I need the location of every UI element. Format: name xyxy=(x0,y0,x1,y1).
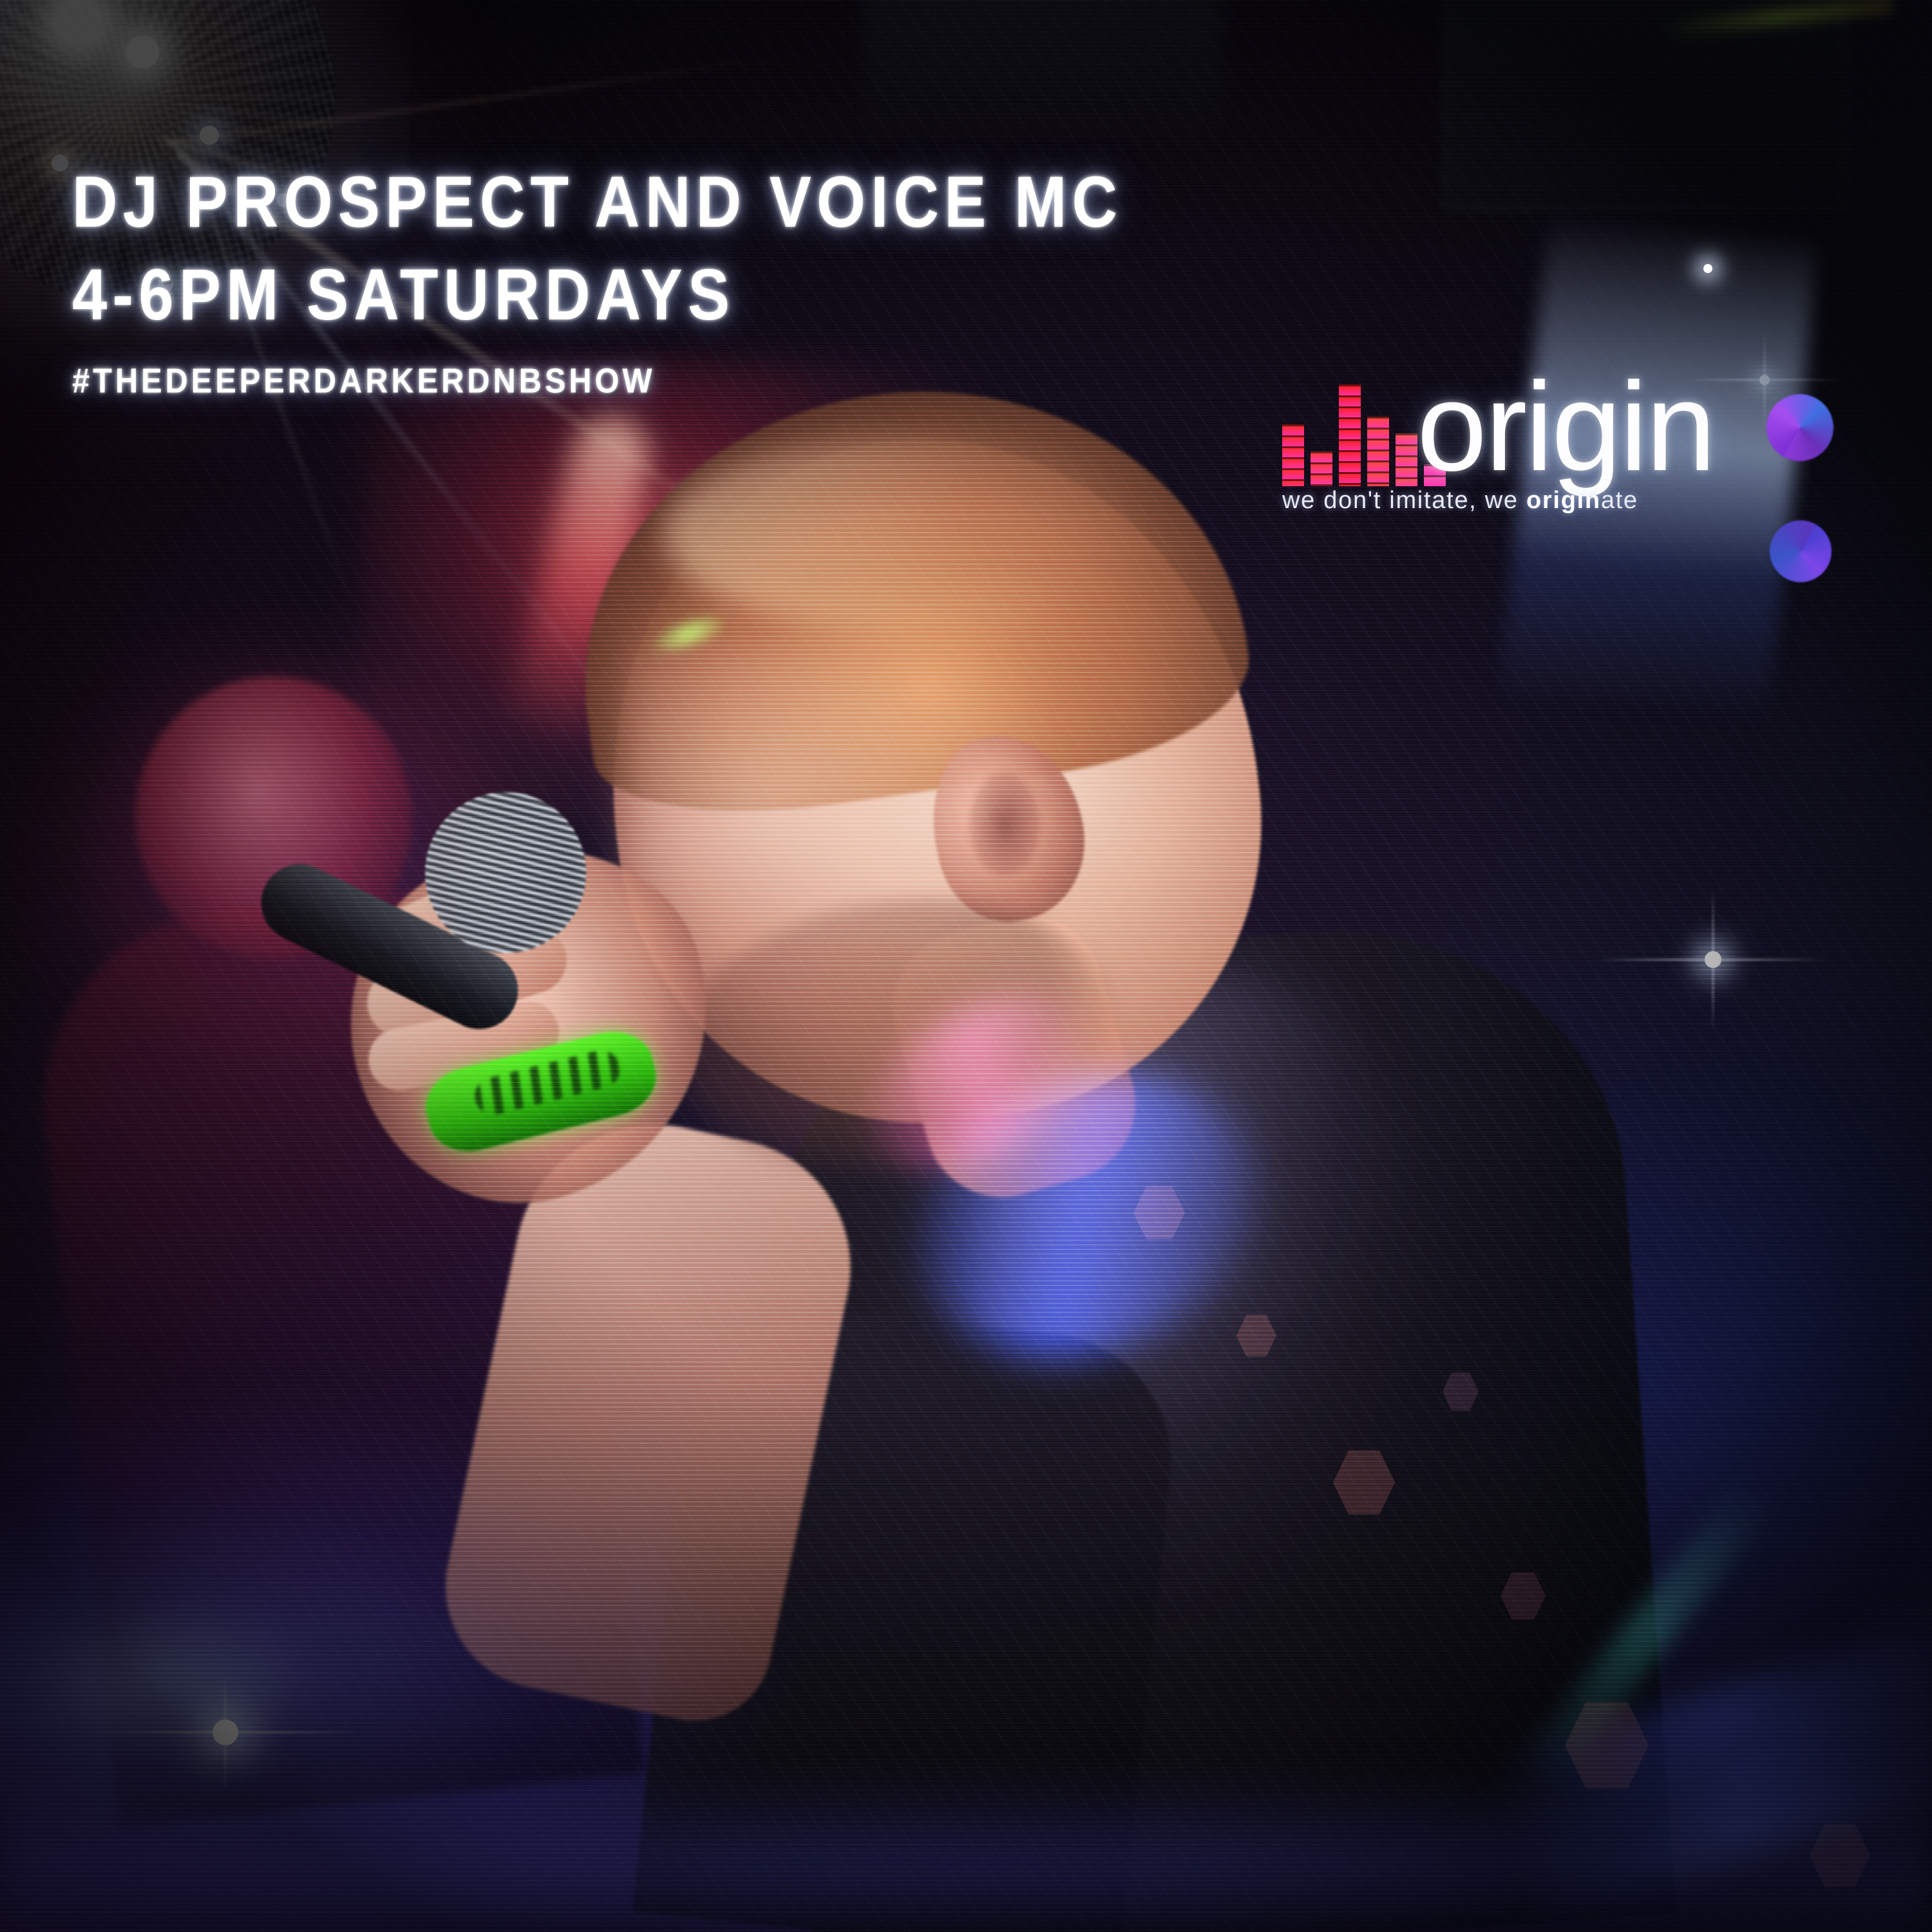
origin-tagline: we don't imitate, we originate xyxy=(1282,487,1638,515)
headline-line-2: 4-6PM SATURDAYS xyxy=(72,259,1122,331)
disco-ball-sparkle xyxy=(52,155,68,171)
equalizer-bar xyxy=(1282,424,1304,486)
origin-wordmark-text: origin xyxy=(1417,354,1714,499)
equalizer-bar xyxy=(1339,384,1361,486)
logo-g-dot-top xyxy=(1766,394,1833,461)
origin-logo: origin we don't imitate, we originate xyxy=(1278,361,1871,580)
headline-line-1: DJ PROSPECT AND VOICE MC xyxy=(72,166,1122,238)
poster-copy: DJ PROSPECT AND VOICE MC 4-6PM SATURDAYS… xyxy=(72,166,1063,393)
promo-poster: DJ PROSPECT AND VOICE MC 4-6PM SATURDAYS… xyxy=(0,0,1932,1932)
lens-star-flare xyxy=(1597,844,1829,1075)
equalizer-bar xyxy=(1311,451,1332,486)
tagline-part-2: ate xyxy=(1601,487,1638,514)
tagline-part-1: we don't imitate, we xyxy=(1282,487,1526,514)
show-hashtag: #THEDEEPERDARKERDNBSHOW xyxy=(72,363,1103,398)
equalizer-bar xyxy=(1367,417,1389,486)
logo-g-dot-bottom xyxy=(1770,520,1832,582)
mc-hair-highlight xyxy=(663,438,1153,631)
disco-ball-sparkle xyxy=(126,35,159,69)
background-screen-mid xyxy=(863,0,1224,155)
background-screen-right xyxy=(1443,0,1846,210)
equalizer-bar xyxy=(1396,433,1417,486)
logo-sparkle xyxy=(1703,264,1712,273)
tagline-bold: origin xyxy=(1526,487,1601,514)
lens-star-flare xyxy=(90,1636,361,1829)
